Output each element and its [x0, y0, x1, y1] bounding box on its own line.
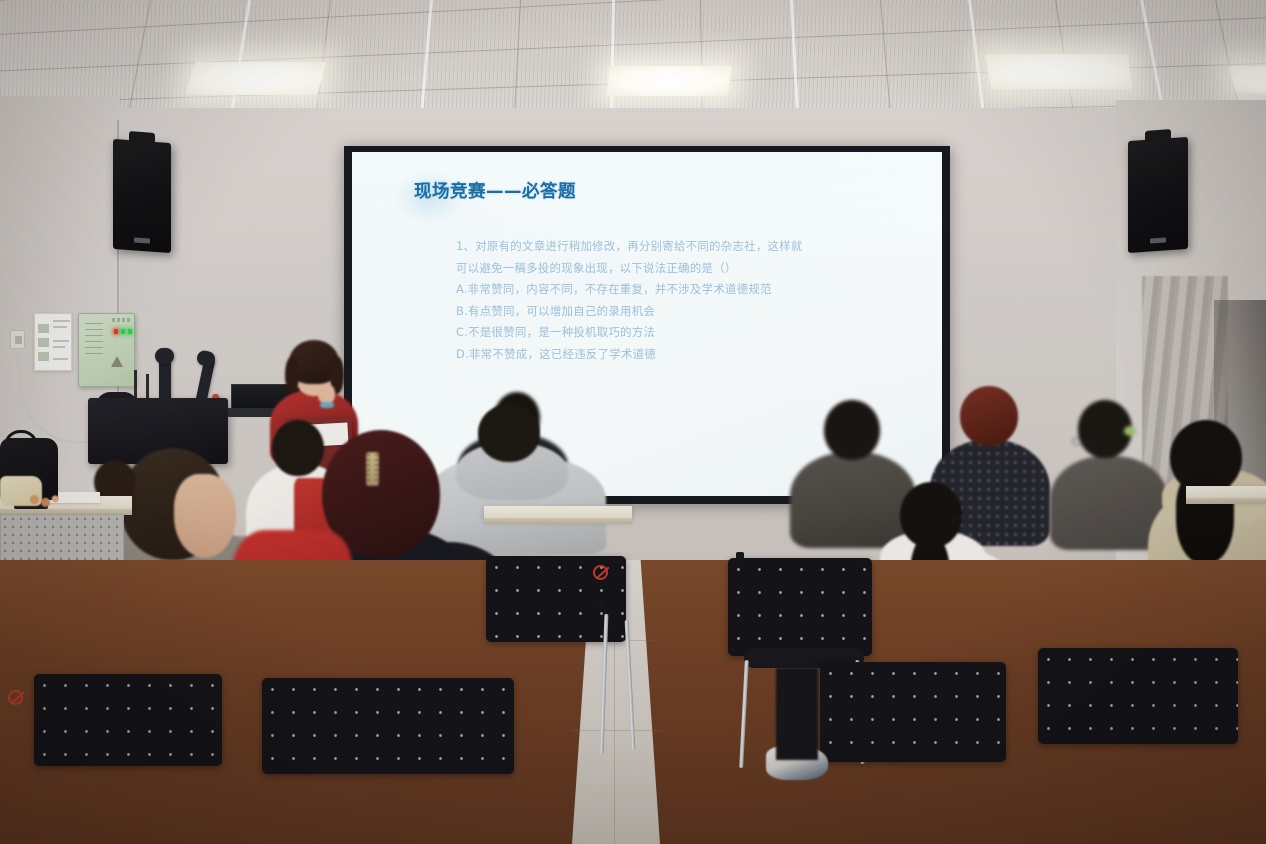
presenter-wrist-watch: [320, 402, 334, 408]
poster-text-line: [53, 340, 69, 342]
ceiling-light-mid: [606, 66, 732, 96]
chair-back-right-3[interactable]: [1038, 648, 1238, 744]
speaker-bracket-icon: [129, 131, 155, 144]
chair-foot-cap: [736, 552, 744, 562]
slide-title: 现场竞赛——必答题: [414, 178, 576, 203]
microphone-head: [155, 348, 174, 364]
student-head: [960, 386, 1018, 446]
poster-text-line: [53, 320, 70, 322]
chair-back-right-2[interactable]: [820, 662, 1006, 762]
chair-back-right-1[interactable]: [728, 558, 872, 656]
poster-text-line: [53, 326, 67, 328]
speaker-bracket-icon: [1145, 129, 1171, 142]
panel-label-lines: [85, 323, 103, 359]
slide-body: 1、对原有的文章进行稍加修改，再分别寄给不同的杂志社，这样就 可以避免一稿多投的…: [456, 236, 926, 365]
led-green-indicator: [121, 329, 125, 334]
warning-triangle-icon: [111, 356, 123, 367]
chair-back-front-mid[interactable]: [262, 678, 514, 774]
classroom-scene: 现场竞赛——必答题 1、对原有的文章进行稍加修改，再分别寄给不同的杂志社，这样就…: [0, 0, 1266, 844]
led-green-indicator-2: [128, 329, 132, 334]
hair-clip: [366, 452, 379, 486]
presenter-glasses: [299, 364, 321, 371]
presenter-hair-side: [285, 356, 299, 394]
student-hair-long: [1176, 468, 1234, 564]
speaker-left: [113, 139, 171, 253]
desk-edge: [484, 518, 632, 524]
desk-edge: [1186, 498, 1266, 504]
slide-option-a: A.非常赞同，内容不同，不存在重复，并不涉及学术道德规范: [456, 279, 926, 301]
no-smoking-sticker-icon: [8, 690, 23, 705]
chair-foot-cap: [598, 600, 606, 610]
no-smoking-sticker-icon: [593, 565, 608, 580]
speaker-badge: [134, 237, 150, 243]
speaker-right: [1128, 137, 1188, 253]
presenter-hand: [318, 384, 335, 404]
student-face: [174, 474, 236, 558]
student-head: [824, 400, 880, 460]
chair-foot-cap: [858, 558, 866, 568]
wall-power-outlet[interactable]: [10, 330, 25, 349]
slide-option-d: D.非常不赞成，这已经违反了学术道德: [456, 344, 926, 366]
electrical-control-panel[interactable]: [78, 313, 135, 387]
slide-option-c: C.不是很赞同，是一种投机取巧的方法: [456, 322, 926, 344]
floor-tile-seam: [572, 730, 662, 731]
led-red-indicator: [114, 329, 118, 334]
chair-back-front-left[interactable]: [34, 674, 222, 766]
speaker-badge: [1150, 237, 1166, 243]
ceiling-light-left: [185, 62, 326, 95]
student-glasses: [952, 518, 970, 525]
panel-header-text: [112, 318, 130, 322]
ceiling-light-right: [985, 54, 1133, 89]
ceiling-light-far-right: [1229, 66, 1266, 93]
slide-line-question-2: 可以避免一稿多投的现象出现，以下说法正确的是（）: [456, 258, 926, 280]
snack-crumbs: [28, 494, 60, 508]
student-trouser-leg: [776, 668, 818, 760]
student-hair-tie: [1124, 426, 1136, 436]
slide-line-question: 1、对原有的文章进行稍加修改，再分别寄给不同的杂志社，这样就: [456, 236, 926, 258]
slide-option-b: B.有点赞同，可以增加自己的录用机会: [456, 301, 926, 323]
poster-graphic: [38, 324, 49, 333]
student-glasses: [1072, 438, 1094, 445]
